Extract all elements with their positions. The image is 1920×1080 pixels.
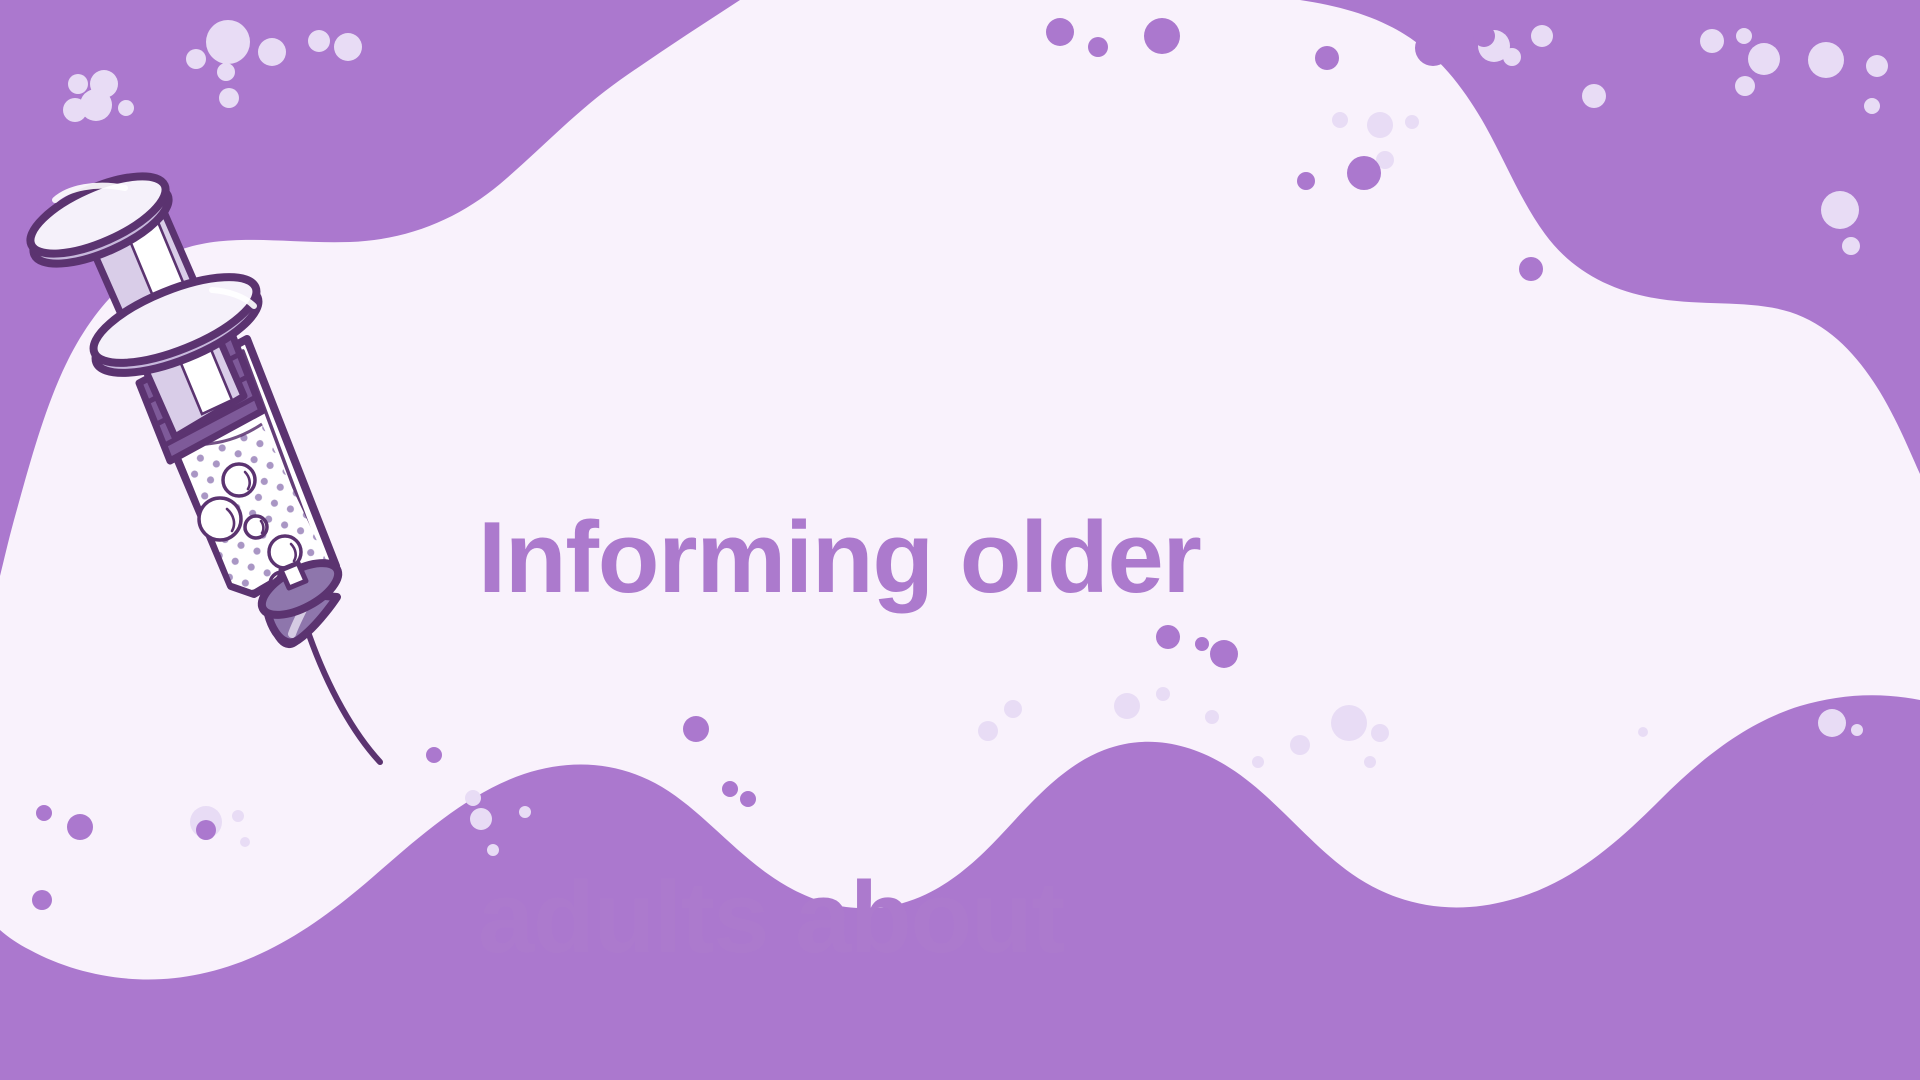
headline-line-2: adults about	[478, 858, 1478, 978]
headline-line-1: Informing older	[478, 498, 1478, 618]
syringe-group	[20, 161, 380, 762]
banner-canvas: Informing older adults about vaccines	[0, 0, 1920, 1080]
syringe-needle	[307, 629, 380, 762]
page-title: Informing older adults about vaccines	[478, 258, 1478, 1080]
syringe-neck	[281, 563, 306, 588]
